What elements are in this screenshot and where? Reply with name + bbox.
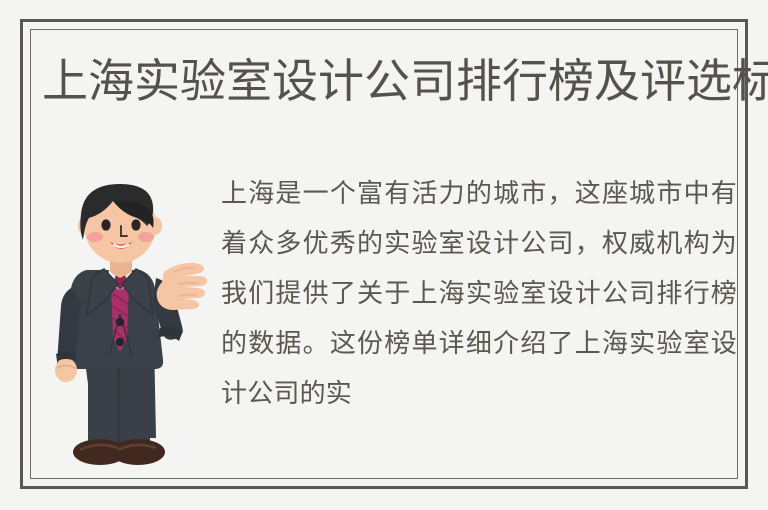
page-title: 上海实验室设计公司排行榜及评选标准	[42, 48, 732, 114]
businessman-icon	[52, 170, 212, 480]
businessman-illustration	[52, 170, 212, 480]
presenting-hand-icon	[157, 263, 207, 310]
article-body: 上海是一个富有活力的城市，这座城市中有着众多优秀的实验室设计公司，权威机构为我们…	[221, 168, 737, 418]
article-card: 上海实验室设计公司排行榜及评选标准	[0, 0, 768, 510]
